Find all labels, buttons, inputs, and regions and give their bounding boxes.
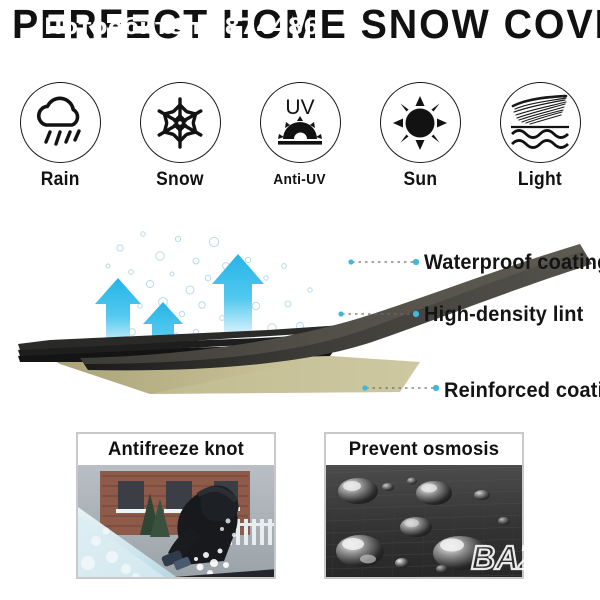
rain-cloud-icon bbox=[20, 82, 101, 163]
product-infographic: PERFECT HOME SNOW COVER Потребител 28744… bbox=[0, 0, 600, 600]
sun-icon bbox=[380, 82, 461, 163]
feature-label-snow: Snow bbox=[156, 170, 204, 190]
feature-label-rain: Rain bbox=[41, 170, 80, 190]
feature-label-sun: Sun bbox=[403, 170, 437, 190]
callout-label-high-density-lint: High-density lint bbox=[424, 304, 584, 326]
header: PERFECT HOME SNOW COVER Потребител 28744… bbox=[0, 0, 600, 58]
feature-item-snow: Snow bbox=[133, 82, 227, 190]
feature-item-light: Light bbox=[493, 82, 587, 190]
feature-item-rain: Rain bbox=[13, 82, 107, 190]
water-beads-on-fabric-photo bbox=[326, 465, 522, 577]
panel-antifreeze-knot: Antifreeze knot bbox=[76, 432, 276, 579]
snowflake-icon bbox=[140, 82, 221, 163]
uv-sun-horizon-icon: UV bbox=[260, 82, 341, 163]
feature-icon-row: Rain bbox=[0, 82, 600, 204]
callout-label-waterproof-coating: Waterproof coating bbox=[424, 252, 600, 274]
svg-text:UV: UV bbox=[285, 96, 314, 119]
bottom-photo-panels: Antifreeze knot bbox=[0, 432, 600, 600]
panel-prevent-osmosis: Prevent osmosis bbox=[324, 432, 524, 579]
feature-label-light: Light bbox=[518, 170, 562, 190]
feature-item-sun: Sun bbox=[373, 82, 467, 190]
callout-label-reinforced-coating: Reinforced coating bbox=[444, 380, 600, 402]
panel-title-prevent-osmosis: Prevent osmosis bbox=[329, 434, 519, 465]
feature-item-anti-uv: UV Anti-UV bbox=[253, 82, 347, 190]
panel-title-antifreeze-knot: Antifreeze knot bbox=[81, 434, 271, 465]
feature-label-anti-uv: Anti-UV bbox=[274, 170, 327, 190]
callout-label-group: Waterproof coating High-density lint Rei… bbox=[0, 206, 600, 421]
feather-waves-icon bbox=[500, 82, 581, 163]
fabric-layer-diagram: Waterproof coating High-density lint Rei… bbox=[0, 206, 600, 421]
seller-watermark: Потребител 2874486 bbox=[44, 16, 319, 40]
person-scraping-ice-windshield-photo bbox=[78, 465, 274, 577]
